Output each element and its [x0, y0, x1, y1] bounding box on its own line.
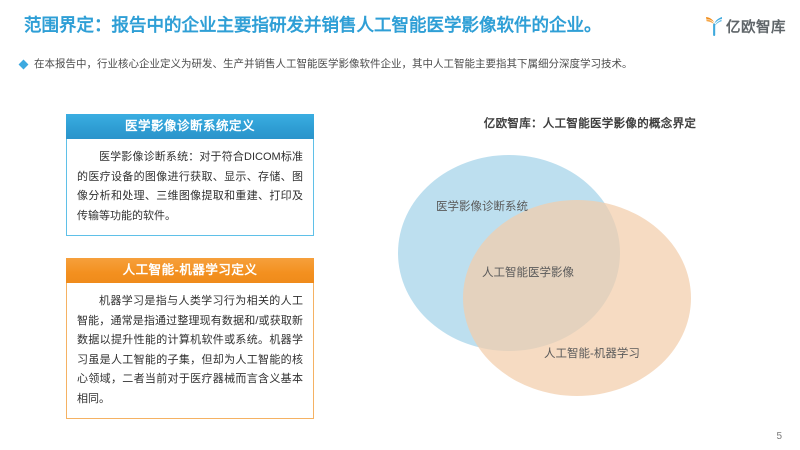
summary-bullet-text: 在本报告中，行业核心企业定义为研发、生产并销售人工智能医学影像软件企业，其中人工… — [34, 57, 633, 72]
card-body-ai: 机器学习是指与人类学习行为相关的人工智能，通常是指通过整理现有数据和/或获取新数… — [66, 283, 314, 419]
page-number: 5 — [776, 431, 782, 442]
venn-label-set-a: 医学影像诊断系统 — [436, 198, 528, 214]
venn-label-set-b: 人工智能-机器学习 — [544, 345, 640, 361]
diamond-bullet-icon — [19, 60, 29, 70]
slide-canvas: 范围界定：报告中的企业主要指研发并销售人工智能医学影像软件的企业。 亿欧智库 在… — [0, 0, 800, 450]
venn-label-intersection: 人工智能医学影像 — [482, 264, 574, 280]
logo-text: 亿欧智库 — [726, 16, 786, 37]
summary-bullet: 在本报告中，行业核心企业定义为研发、生产并销售人工智能医学影像软件企业，其中人工… — [20, 57, 770, 72]
definition-card-ai: 人工智能-机器学习定义 机器学习是指与人类学习行为相关的人工智能，通常是指通过整… — [66, 258, 314, 419]
venn-set-ai-machine-learning — [463, 200, 691, 396]
sprout-icon — [704, 15, 724, 37]
card-header-ai: 人工智能-机器学习定义 — [66, 258, 314, 283]
card-body-imaging: 医学影像诊断系统：对于符合DICOM标准的医疗设备的图像进行获取、显示、存储、图… — [66, 139, 314, 236]
card-header-imaging: 医学影像诊断系统定义 — [66, 114, 314, 139]
venn-chart-title: 亿欧智库：人工智能医学影像的概念界定 — [425, 115, 755, 131]
brand-logo: 亿欧智库 — [704, 13, 786, 39]
page-title: 范围界定：报告中的企业主要指研发并销售人工智能医学影像软件的企业。 — [24, 14, 674, 36]
venn-diagram: 医学影像诊断系统 人工智能医学影像 人工智能-机器学习 — [392, 140, 792, 400]
definition-card-imaging: 医学影像诊断系统定义 医学影像诊断系统：对于符合DICOM标准的医疗设备的图像进… — [66, 114, 314, 236]
